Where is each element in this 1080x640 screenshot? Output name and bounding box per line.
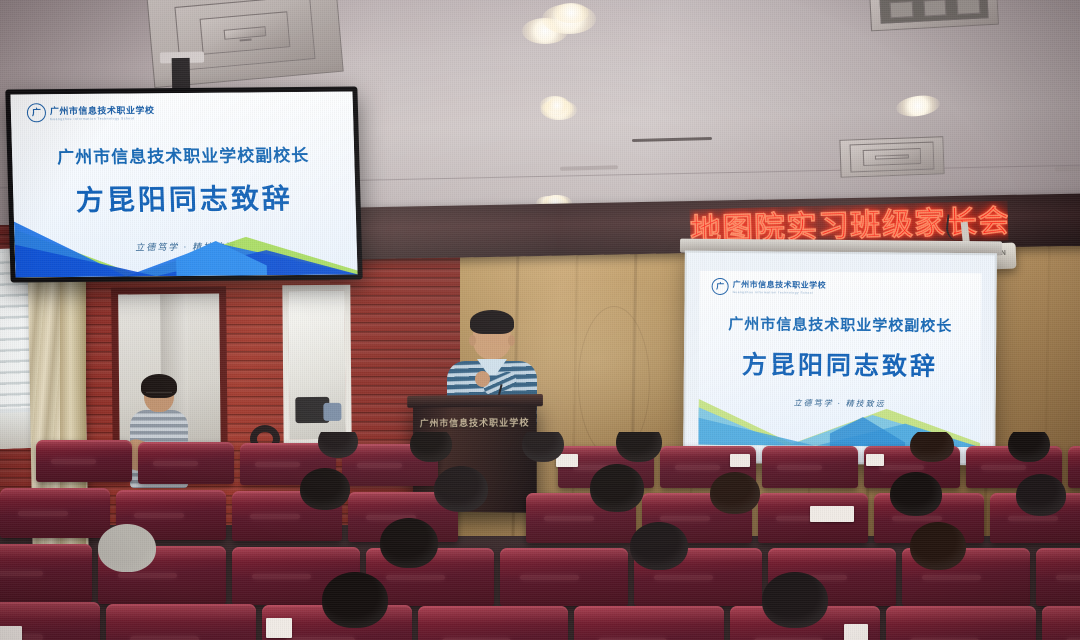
- glasses-icon: [146, 392, 172, 400]
- audience-head: [434, 466, 488, 512]
- school-logo-subtext: Guangzhou Information Technology School: [50, 116, 155, 121]
- seat-label-tag: [866, 454, 884, 466]
- seat-label-tag: [844, 624, 868, 640]
- projection-slide: 广 广州市信息技术职业学校 Guangzhou Information Tech…: [698, 271, 982, 447]
- audience-head: [1016, 474, 1066, 516]
- seat[interactable]: [886, 606, 1036, 640]
- audience-head: [616, 432, 662, 462]
- ceiling-air-vent-2-icon: [839, 136, 944, 178]
- audience-head: [410, 432, 452, 462]
- projection-slide-line1: 广州市信息技术职业学校副校长: [699, 313, 981, 336]
- seat-label-tag: [810, 506, 854, 522]
- ceiling-slot-diffuser: [1055, 165, 1080, 171]
- seat[interactable]: [500, 548, 628, 606]
- audience-head: [890, 472, 942, 516]
- speaker-ear-right: [508, 335, 515, 346]
- seat[interactable]: [36, 440, 132, 482]
- audience-head: [910, 522, 966, 570]
- audience-head: [1008, 432, 1050, 462]
- audience-head-grey: [98, 524, 156, 572]
- ceiling-downlight: [553, 3, 589, 23]
- audience-head: [762, 572, 828, 628]
- seat[interactable]: [574, 606, 724, 640]
- seat[interactable]: [106, 604, 256, 640]
- podium-nameplate: 广州市信息技术职业学校: [413, 415, 537, 429]
- seat[interactable]: [138, 442, 234, 484]
- audience-head: [522, 432, 564, 462]
- auditorium-photo: 广 广州市信息技术职业学校 Guangzhou Information Tech…: [0, 0, 1080, 640]
- seat-label-tag: [0, 626, 22, 640]
- tv-panel: 广 广州市信息技术职业学校 Guangzhou Information Tech…: [10, 92, 357, 278]
- school-logo-text: 广州市信息技术职业学校: [733, 279, 827, 291]
- audience-head: [322, 572, 388, 628]
- seat[interactable]: [1036, 548, 1080, 606]
- audience-head: [630, 522, 688, 570]
- podium-top-surface: [407, 394, 543, 408]
- speaker-hair: [470, 310, 514, 334]
- seat[interactable]: [1068, 446, 1080, 488]
- school-logo-text: 广州市信息技术职业学校: [50, 103, 155, 117]
- seat-label-tag: [730, 454, 750, 467]
- projected-slide-area: 广 广州市信息技术职业学校 Guangzhou Information Tech…: [698, 271, 982, 447]
- tv-slide-logo: 广 广州市信息技术职业学校 Guangzhou Information Tech…: [27, 102, 155, 122]
- school-logo-icon: 广: [27, 103, 47, 122]
- seat[interactable]: [1042, 606, 1080, 640]
- projection-slide-logo: 广 广州市信息技术职业学校 Guangzhou Information Tech…: [712, 278, 827, 296]
- seat[interactable]: [0, 488, 110, 538]
- seat[interactable]: [418, 606, 568, 640]
- tv-slide-line1: 广州市信息技术职业学校副校长: [12, 141, 355, 169]
- audience-head: [300, 468, 350, 510]
- school-logo-subtext: Guangzhou Information Technology School: [733, 290, 827, 295]
- seat-label-tag: [266, 618, 292, 638]
- window-object-2: [323, 403, 341, 421]
- speaker-hand: [475, 371, 490, 387]
- interior-window: [282, 285, 351, 446]
- seat[interactable]: [0, 544, 92, 602]
- wall-mounted-tv[interactable]: 广 广州市信息技术职业学校 Guangzhou Information Tech…: [5, 87, 362, 283]
- ceiling-downlight-small: [546, 99, 568, 112]
- audience-head: [590, 464, 644, 512]
- slide-wave-graphic: [13, 198, 357, 278]
- audience-head: [380, 518, 438, 568]
- school-logo-icon: 广: [712, 278, 729, 295]
- audience-seating: [0, 432, 1080, 640]
- audience-head: [710, 472, 760, 514]
- seat[interactable]: [762, 446, 858, 488]
- tv-slide: 广 广州市信息技术职业学校 Guangzhou Information Tech…: [10, 92, 357, 278]
- audience-head: [910, 432, 954, 462]
- speaker-ear-left: [469, 335, 476, 346]
